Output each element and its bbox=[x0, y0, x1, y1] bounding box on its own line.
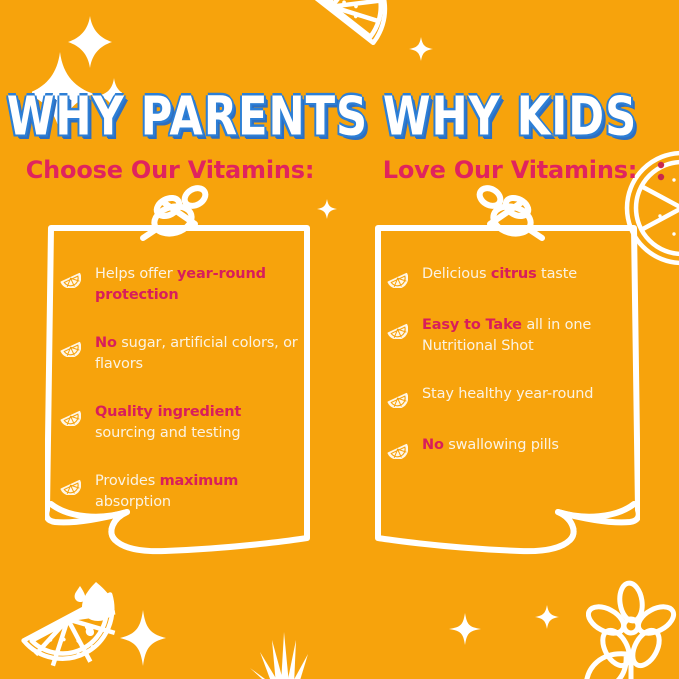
pushpin-icon bbox=[460, 182, 552, 249]
promo-graphic: WHY PARENTS Choose Our Vitamins: WHY KID… bbox=[0, 0, 679, 679]
column-heading-parents: WHY PARENTS Choose Our Vitamins: bbox=[0, 86, 340, 184]
list-item-text: Provides maximum absorption bbox=[95, 471, 303, 513]
orange-half-slice-top bbox=[268, 0, 398, 70]
page-title-parents: WHY PARENTS bbox=[7, 86, 333, 147]
flower-bottom-right bbox=[586, 580, 679, 679]
note-card-kids: Delicious citrus taste Easy to Take bbox=[372, 218, 640, 573]
list-item: No sugar, artificial colors, or flavors bbox=[59, 333, 303, 375]
sparkle-tiny-bottom-right bbox=[534, 604, 560, 630]
orange-wedge-icon bbox=[59, 473, 81, 495]
sparkle-tiny-mid-left bbox=[316, 198, 338, 220]
list-item: Provides maximum absorption bbox=[59, 471, 303, 513]
sparkle-bottom-left bbox=[118, 608, 168, 668]
list-item: Easy to Take all in one Nutritional Shot bbox=[386, 315, 630, 357]
page-subtitle-parents: Choose Our Vitamins: bbox=[0, 156, 340, 184]
list-item-text: No swallowing pills bbox=[422, 435, 559, 456]
list-item-text: Stay healthy year-round bbox=[422, 384, 593, 405]
list-item-text: Delicious citrus taste bbox=[422, 264, 577, 285]
list-item: Helps offer year-round protection bbox=[59, 264, 303, 306]
benefit-list-parents: Helps offer year-round protection N bbox=[59, 264, 303, 540]
leaf-bottom-right bbox=[582, 648, 642, 679]
list-item-text: Easy to Take all in one Nutritional Shot bbox=[422, 315, 630, 357]
juice-droplets-bottom-left bbox=[66, 576, 126, 638]
column-heading-kids: WHY KIDS Love Our Vitamins: bbox=[340, 86, 679, 184]
pushpin-icon bbox=[133, 182, 225, 249]
list-item-text: No sugar, artificial colors, or flavors bbox=[95, 333, 303, 375]
orange-wedge-icon bbox=[386, 437, 408, 459]
grass-burst-bottom-center bbox=[240, 628, 330, 679]
list-item: Delicious citrus taste bbox=[386, 264, 630, 288]
orange-wedge-icon bbox=[386, 317, 408, 339]
sparkle-tiny-top-center bbox=[408, 36, 434, 62]
list-item-text: Helps offer year-round protection bbox=[95, 264, 303, 306]
page-subtitle-kids: Love Our Vitamins: bbox=[340, 156, 679, 184]
orange-wedge-icon bbox=[386, 386, 408, 408]
note-card-parents: Helps offer year-round protection N bbox=[45, 218, 313, 573]
list-item: Quality ingredient sourcing and testing bbox=[59, 402, 303, 444]
orange-wedge-icon bbox=[59, 404, 81, 426]
benefit-list-kids: Delicious citrus taste Easy to Take bbox=[386, 264, 630, 486]
orange-wedge-icon bbox=[59, 335, 81, 357]
list-item: Stay healthy year-round bbox=[386, 384, 630, 408]
orange-slice-bottom-left bbox=[16, 568, 126, 673]
sparkle-bottom-center bbox=[448, 612, 482, 646]
list-item-text: Quality ingredient sourcing and testing bbox=[95, 402, 303, 444]
page-title-kids: WHY KIDS bbox=[347, 86, 673, 147]
orange-wedge-icon bbox=[59, 266, 81, 288]
orange-wedge-icon bbox=[386, 266, 408, 288]
list-item: No swallowing pills bbox=[386, 435, 630, 459]
